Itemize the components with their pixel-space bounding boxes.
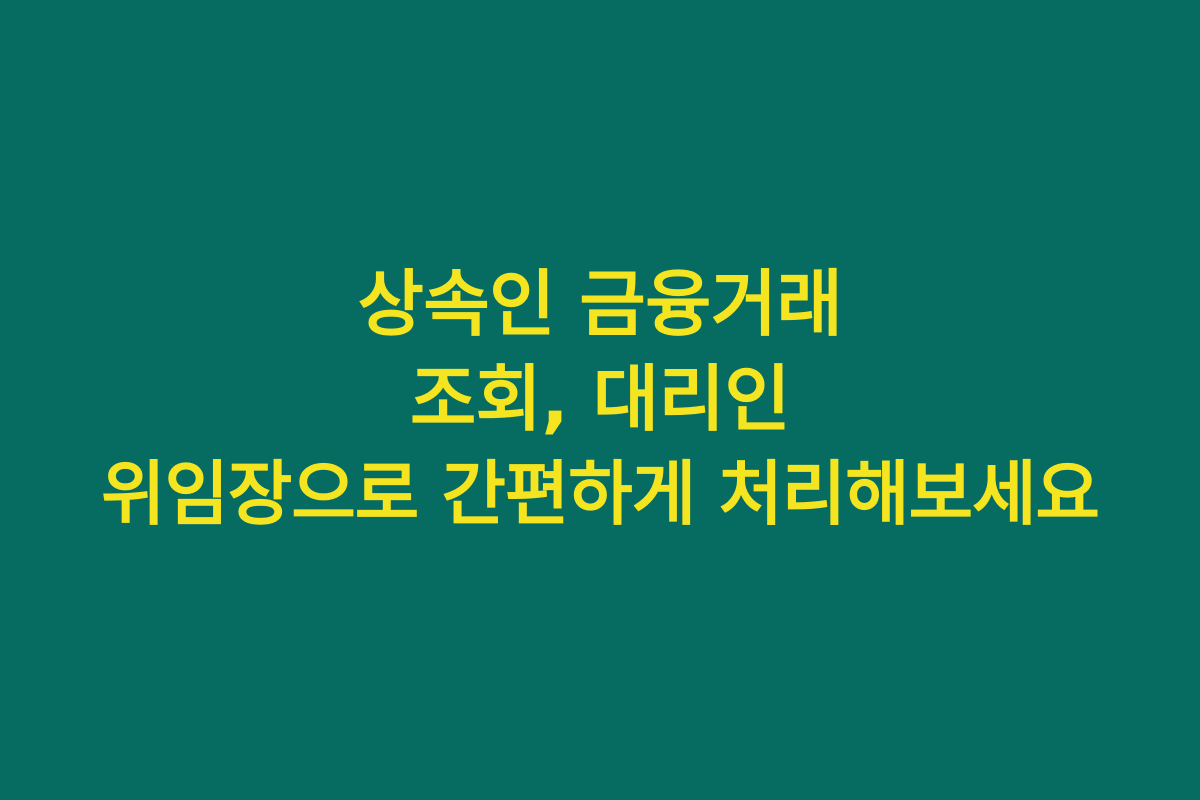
headline-block: 상속인 금융거래 조회, 대리인 위임장으로 간편하게 처리해보세요 <box>0 257 1200 542</box>
headline-line-2: 조회, 대리인 <box>12 352 1188 447</box>
headline-line-3: 위임장으로 간편하게 처리해보세요 <box>12 447 1188 542</box>
headline-line-1: 상속인 금융거래 <box>12 257 1188 352</box>
promo-banner: 상속인 금융거래 조회, 대리인 위임장으로 간편하게 처리해보세요 <box>0 0 1200 800</box>
